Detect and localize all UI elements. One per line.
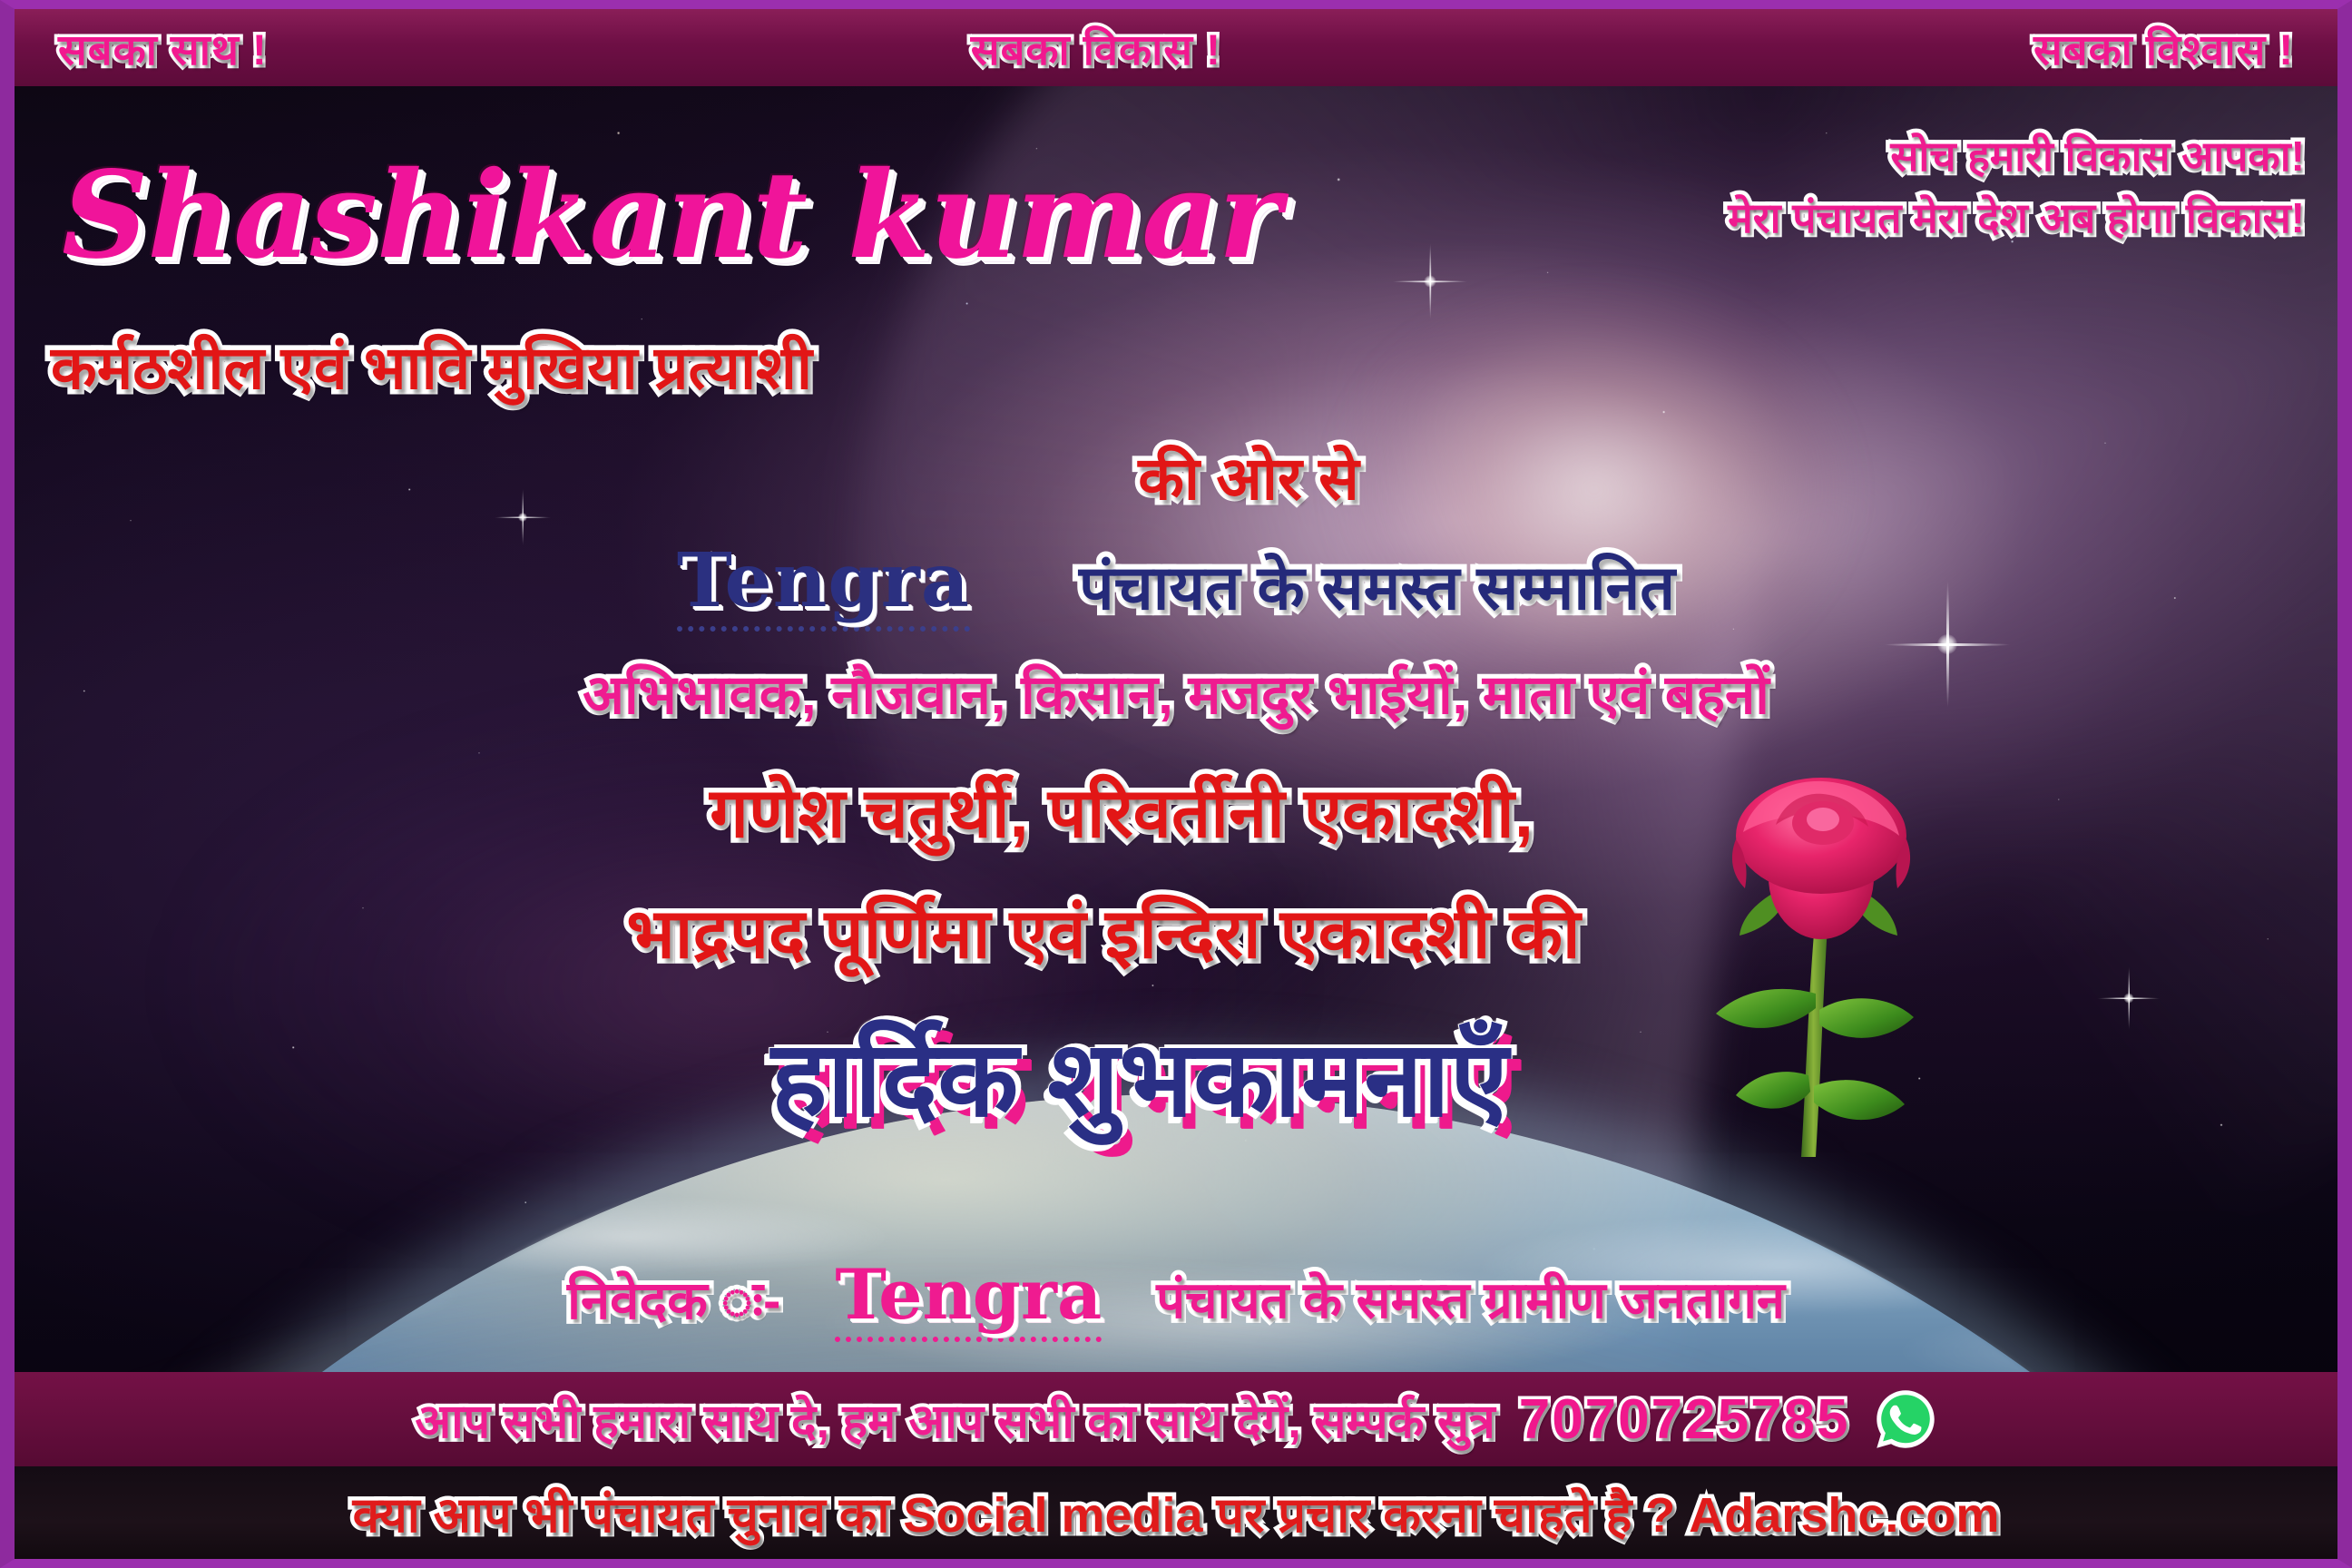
whatsapp-icon[interactable] — [1874, 1387, 1937, 1451]
panchayat-row: Tengra पंचायत के समस्त सम्मानित — [15, 537, 2337, 632]
ki-or-se-text: की ओर से — [87, 436, 2352, 517]
slogan-sabka-vishwas: सबका विश्वास ! — [2033, 19, 2294, 77]
footer-promo-text[interactable]: क्या आप भी पंचायत चुनाव का Social media … — [353, 1479, 2000, 1546]
footer-contact-row: आप सभी हमारा साथ दे, हम आप सभी का साथ दे… — [15, 1372, 2337, 1466]
slogan-mera-panchayat: मेरा पंचायत मेरा देश अब होगा विकास! — [1728, 189, 2305, 245]
election-greeting-poster: सबका साथ ! सबका विकास ! सबका विश्वास ! S… — [0, 0, 2352, 1568]
contact-phone-number[interactable]: 7070725785 — [1519, 1387, 1850, 1452]
audience-line: अभिभावक, नौजवान, किसान, मजदुर भाईयों, मा… — [15, 655, 2337, 730]
panchayat-line: पंचायत के समस्त सम्मानित — [1079, 543, 1675, 627]
panchayat-name: Tengra — [677, 537, 970, 632]
slogan-soch-hamari: सोच हमारी विकास आपका! — [1890, 127, 2305, 183]
footer-appeal-text: आप सभी हमारा साथ दे, हम आप सभी का साथ दे… — [415, 1387, 1494, 1452]
footer-promo-row: क्या आप भी पंचायत चुनाव का Social media … — [15, 1466, 2337, 1559]
slogan-sabka-vikas: सबका विकास ! — [971, 19, 1221, 77]
nivedak-panchayat-name: Tengra — [835, 1254, 1102, 1342]
candidate-designation: कर्मठशील एवं भावि मुखिया प्रत्याशी — [51, 325, 812, 407]
footer-bar: आप सभी हमारा साथ दे, हम आप सभी का साथ दे… — [15, 1372, 2337, 1559]
candidate-name: Shashikant kumar — [62, 145, 1280, 286]
poster-content: Shashikant kumar सोच हमारी विकास आपका! म… — [15, 9, 2337, 1559]
nivedak-row: निवेदक ः- Tengra पंचायत के समस्त ग्रामीण… — [15, 1254, 2337, 1342]
rose-flower-image — [1689, 767, 1961, 1166]
nivedak-label: निवेदक ः- — [567, 1262, 780, 1334]
top-slogan-bar: सबका साथ ! सबका विकास ! सबका विश्वास ! — [15, 9, 2337, 86]
slogan-sabka-saath: सबका साथ ! — [58, 19, 268, 77]
nivedak-suffix: पंचायत के समस्त ग्रामीण जनतागन — [1156, 1264, 1785, 1333]
right-slogan-group: सोच हमारी विकास आपका! मेरा पंचायत मेरा द… — [1728, 127, 2305, 245]
